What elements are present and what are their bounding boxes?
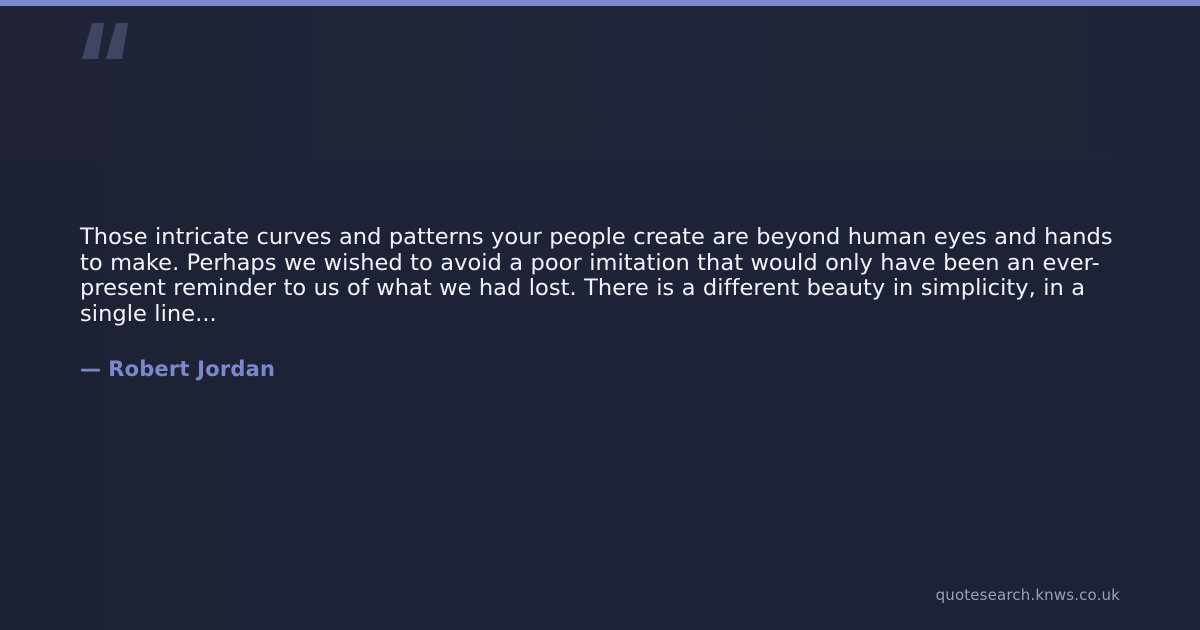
quote-content: Those intricate curves and patterns your… [80,225,1124,382]
site-url-label: quotesearch.knws.co.uk [936,586,1120,604]
top-accent-bar [0,0,1200,6]
author-name: Robert Jordan [108,357,275,381]
open-quote-icon [80,21,140,91]
attribution-dash: — [80,356,101,382]
quote-attribution: —Robert Jordan [80,327,1124,382]
quote-text: Those intricate curves and patterns your… [80,225,1124,327]
quote-card: Those intricate curves and patterns your… [0,0,1200,630]
